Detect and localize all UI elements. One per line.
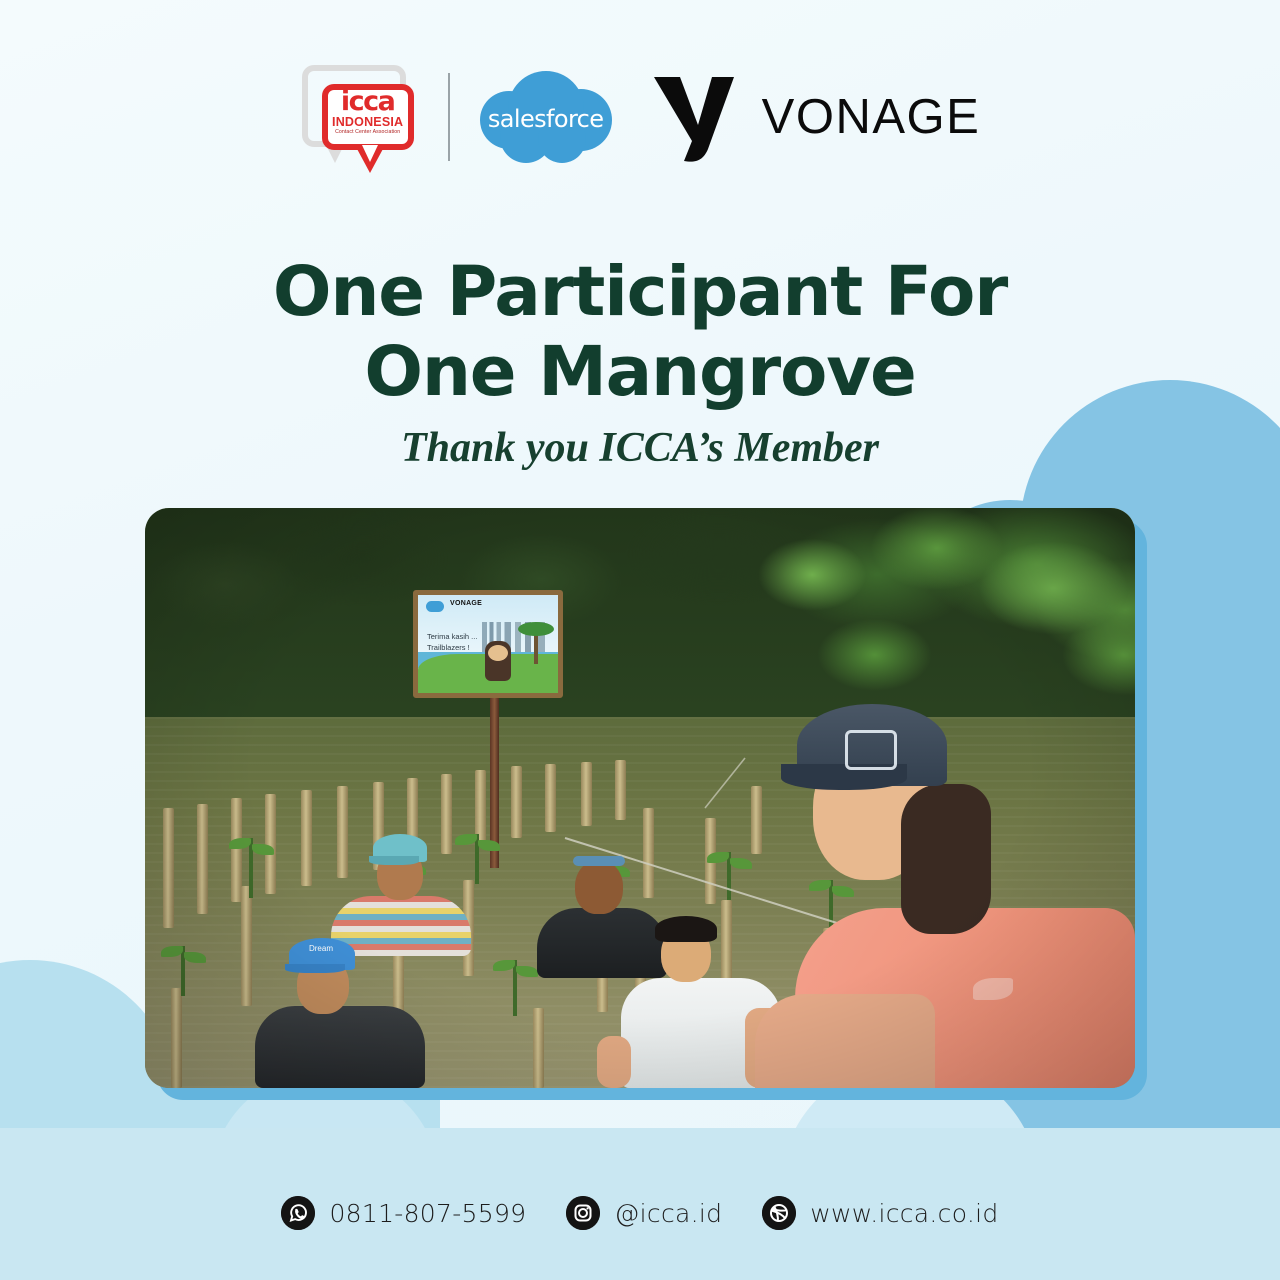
website-globe-icon[interactable]	[762, 1196, 796, 1230]
contact-whatsapp[interactable]: 0811-807-5599	[281, 1196, 526, 1230]
page-title: One Participant For One Mangrove	[0, 252, 1280, 412]
icca-bubble-tail	[356, 147, 384, 173]
logo-divider	[448, 73, 450, 161]
salesforce-cloud-logo: salesforce	[476, 67, 616, 167]
whatsapp-icon[interactable]	[281, 1196, 315, 1230]
logo-bar: icca INDONESIA Contact Center Associatio…	[0, 62, 1280, 172]
salesforce-wordmark: salesforce	[476, 105, 616, 133]
headline-line-2: One Mangrove	[0, 332, 1280, 412]
instagram-icon[interactable]	[566, 1196, 600, 1230]
vonage-logo: VONAGE	[650, 71, 981, 163]
contact-instagram[interactable]: @icca.id	[566, 1196, 722, 1230]
photo-container: VONAGE Terima kasih ... Trailblazers !	[145, 508, 1135, 1088]
contact-website[interactable]: www.icca.co.id	[762, 1196, 998, 1230]
page-subtitle: Thank you ICCA’s Member	[0, 424, 1280, 472]
vonage-wordmark: VONAGE	[762, 89, 981, 145]
mangrove-planting-group-photo: VONAGE Terima kasih ... Trailblazers !	[145, 508, 1135, 1088]
vonage-v-mark	[650, 71, 736, 163]
icca-speech-bubble-logo: icca INDONESIA Contact Center Associatio…	[300, 62, 430, 172]
poster-canvas: icca INDONESIA Contact Center Associatio…	[0, 0, 1280, 1280]
contact-instagram-label: @icca.id	[614, 1199, 722, 1228]
icca-country-label: INDONESIA	[326, 116, 410, 129]
contact-bar: 0811-807-5599 @icca.id	[0, 1196, 1280, 1230]
contact-website-label: www.icca.co.id	[810, 1199, 998, 1228]
icca-wordmark: icca	[328, 88, 408, 115]
icca-tagline: Contact Center Association	[326, 130, 410, 135]
headline-line-1: One Participant For	[273, 252, 1007, 332]
contact-whatsapp-label: 0811-807-5599	[329, 1199, 526, 1228]
